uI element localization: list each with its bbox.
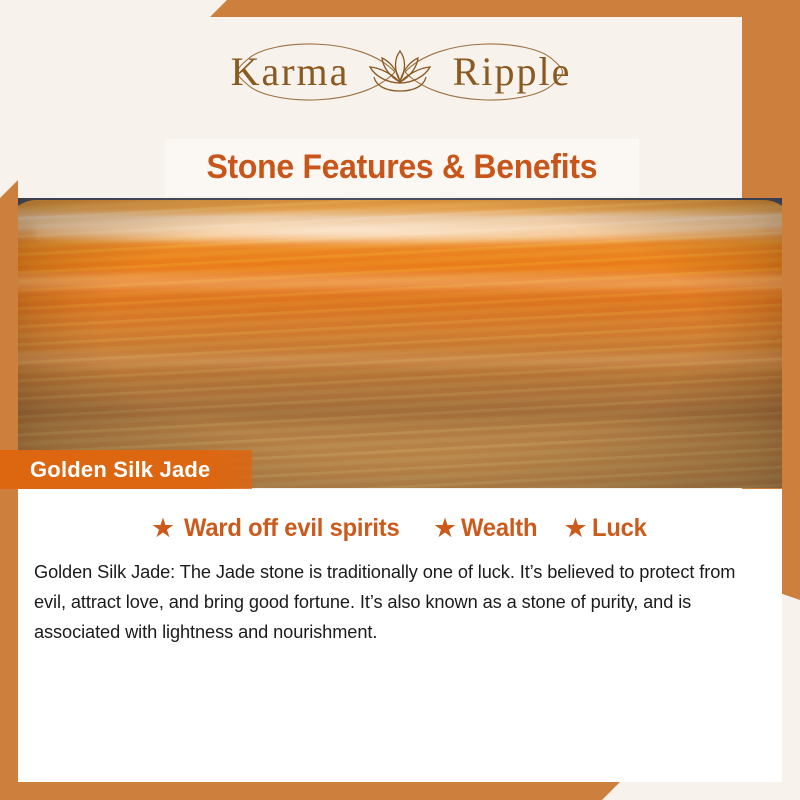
frame-bottom-bar [0,782,620,800]
brand-name-left: Karma [231,49,350,94]
benefit-label: Luck [592,514,647,543]
benefit-item: ★ Wealth [433,514,542,543]
page-title: Stone Features & Benefits [207,148,598,187]
product-name-label: Golden Silk Jade [0,457,210,483]
benefit-item: ★ Luck [563,514,649,543]
photo-vignette [18,198,782,488]
star-icon: ★ [433,515,457,542]
product-image [18,198,782,488]
logo-artwork: Karma Ripple [190,33,610,111]
benefit-label: Ward off evil spirits [184,514,400,543]
frame-top-bar [210,0,800,17]
benefit-item: ★ Ward off evil spirits [151,514,411,543]
brand-logo: Karma Ripple [0,32,800,112]
benefit-label: Wealth [461,514,537,543]
lotus-icon [370,51,430,91]
star-icon: ★ [151,515,175,542]
description-text: Golden Silk Jade: The Jade stone is trad… [34,557,755,647]
star-icon: ★ [563,515,587,542]
benefits-list: ★ Ward off evil spirits ★ Wealth ★ Luck [18,514,782,543]
frame-left-bar [0,180,18,800]
product-name-badge: Golden Silk Jade [0,450,252,489]
section-title-banner: Stone Features & Benefits [165,139,639,196]
brand-name-right: Ripple [453,49,572,94]
content-panel: ★ Ward off evil spirits ★ Wealth ★ Luck … [18,489,782,782]
infographic-page: Karma Ripple Stone Features & Benefits G… [0,0,800,800]
